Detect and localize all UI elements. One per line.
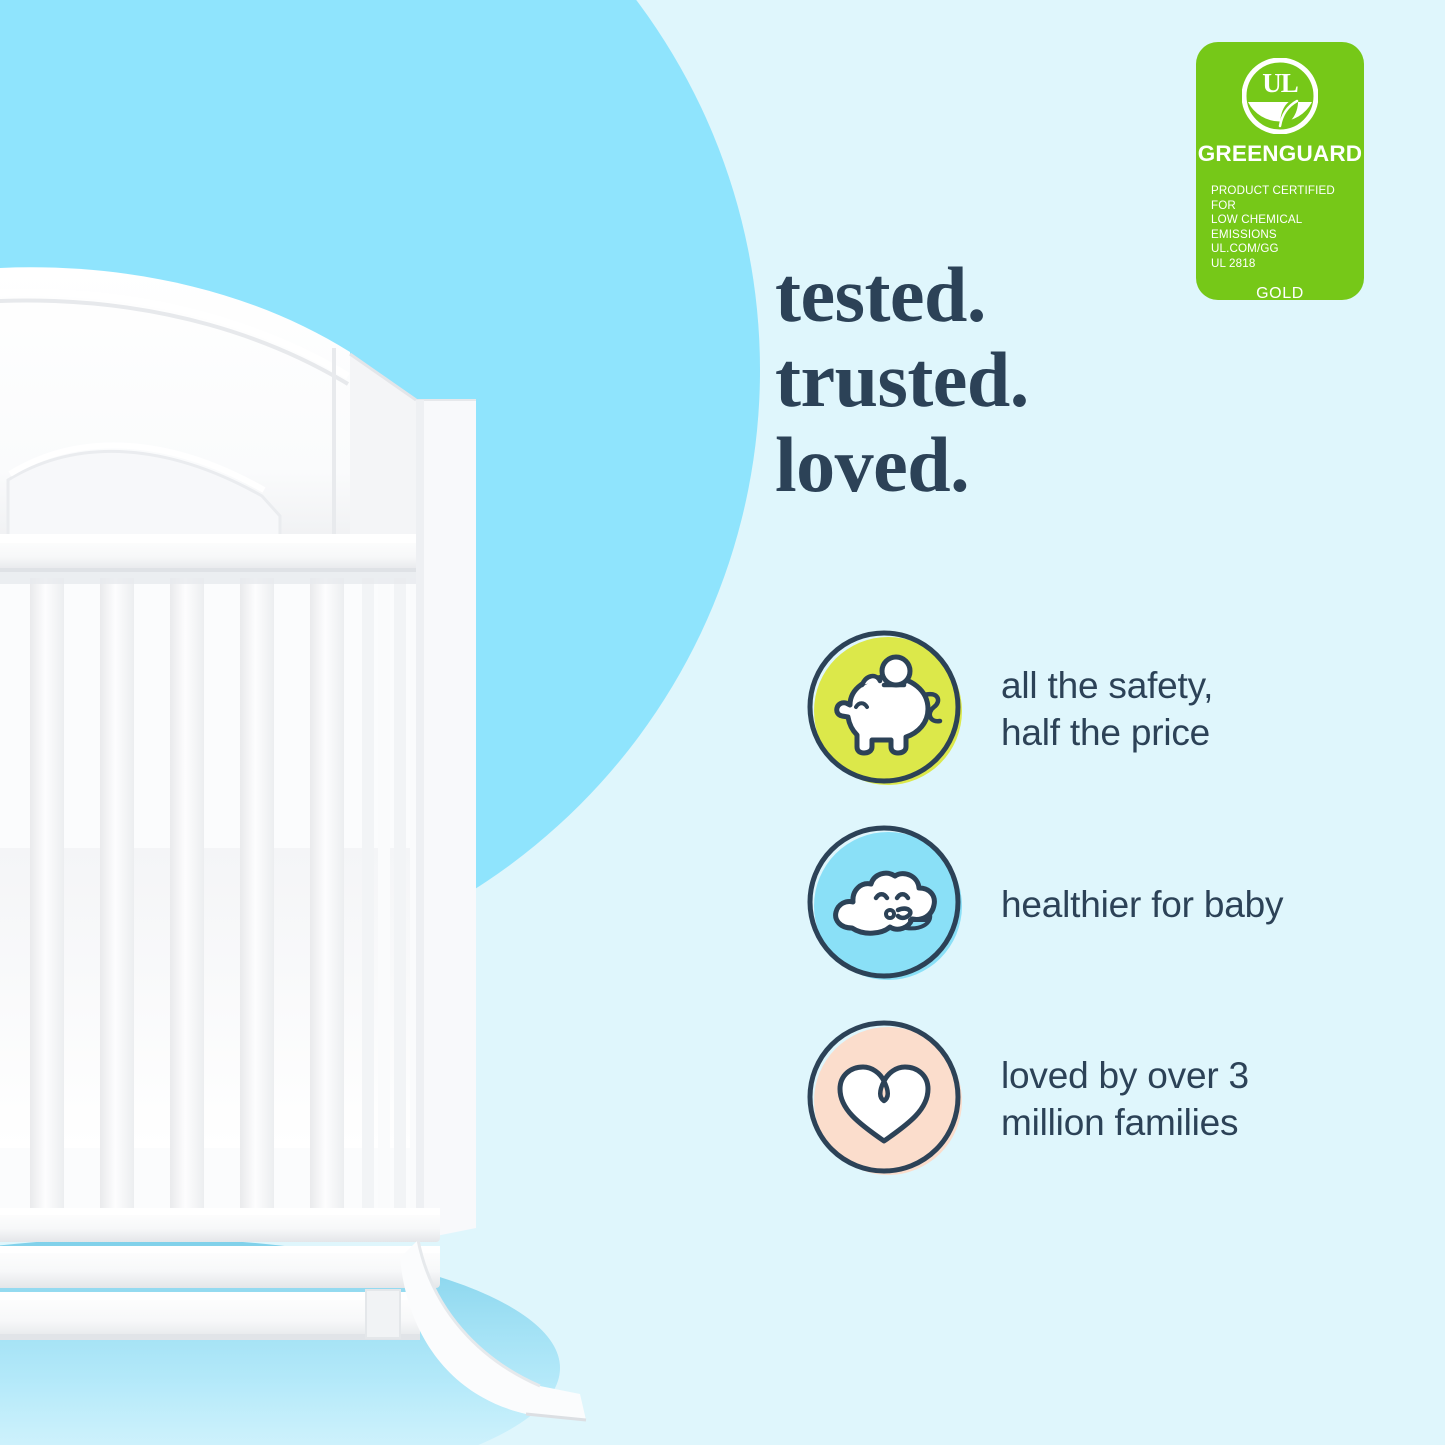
cloud-breath-icon — [806, 824, 966, 984]
heart-icon — [806, 1019, 966, 1179]
feature-label-line-1: all the safety, — [1001, 662, 1213, 709]
feature-label: all the safety, half the price — [1001, 662, 1213, 756]
feature-label-line-1: loved by over 3 — [1001, 1052, 1249, 1099]
feature-item: healthier for baby — [806, 824, 1366, 984]
promo-image: UL GREENGUARD PRODUCT CERTIFIED FOR LOW … — [0, 0, 1445, 1445]
headline-line-3: loved. — [775, 422, 1335, 507]
feature-item: all the safety, half the price — [806, 629, 1366, 789]
feature-label-line-2: million families — [1001, 1099, 1249, 1146]
ul-leaf-mark-icon: UL — [1242, 58, 1318, 134]
headline-line-2: trusted. — [775, 337, 1335, 422]
badge-line-1: PRODUCT CERTIFIED FOR — [1211, 184, 1349, 213]
feature-label: loved by over 3 million families — [1001, 1052, 1249, 1146]
feature-label: healthier for baby — [1001, 881, 1283, 928]
headline: tested. trusted. loved. — [775, 252, 1335, 507]
feature-item: loved by over 3 million families — [806, 1019, 1366, 1179]
feature-list: all the safety, half the price — [806, 629, 1366, 1179]
svg-text:UL: UL — [1262, 68, 1298, 98]
badge-line-2: LOW CHEMICAL EMISSIONS — [1211, 213, 1349, 242]
feature-label-line-2: half the price — [1001, 709, 1213, 756]
feature-label-line-1: healthier for baby — [1001, 881, 1283, 928]
badge-title: GREENGUARD — [1198, 141, 1363, 167]
piggy-bank-icon — [806, 629, 966, 789]
headline-line-1: tested. — [775, 252, 1335, 337]
crib-product-image — [0, 248, 640, 1338]
